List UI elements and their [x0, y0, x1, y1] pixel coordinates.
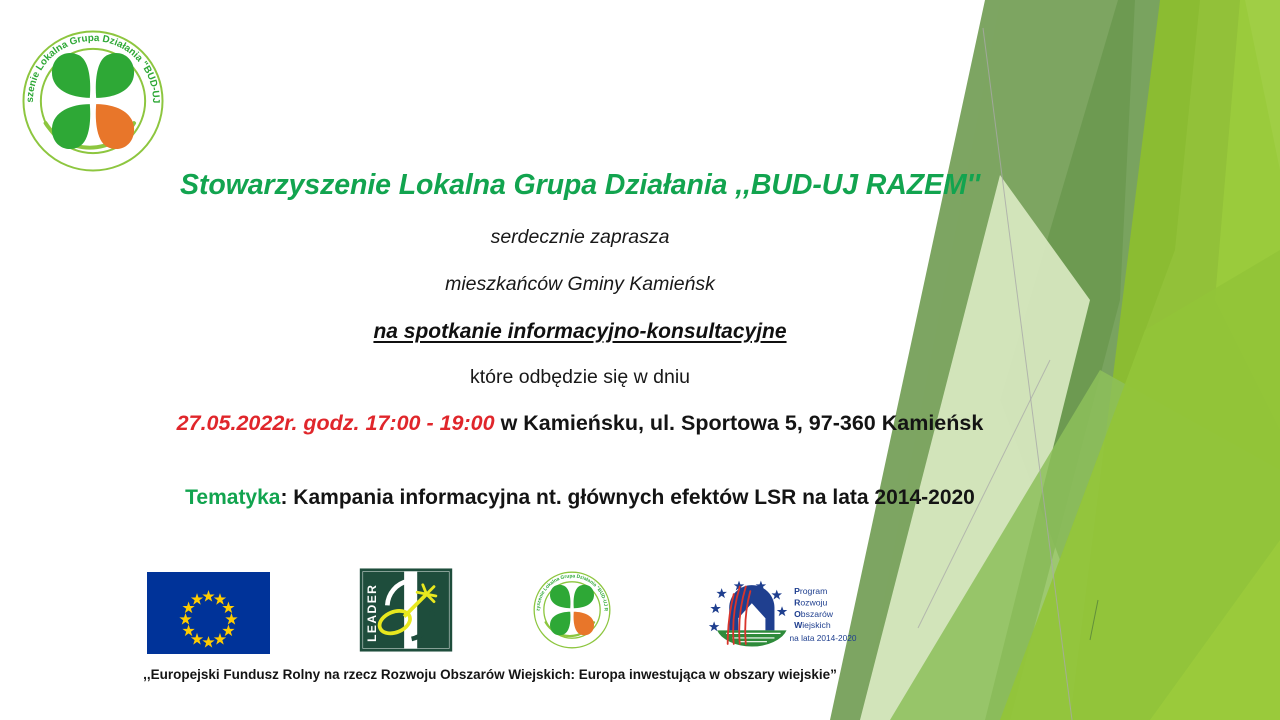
prow-caption: Program Rozwoju Obszarów Wiejskich na la…	[790, 586, 857, 643]
decor-shape-olive-2	[1000, 0, 1200, 560]
clover-leaf-bottom-right	[96, 104, 134, 149]
lgd-small-leaf-top-left	[550, 585, 570, 608]
footer-logo-strip: LEADER Stowarzyszenie Lokalna Grupa Dzia…	[140, 562, 860, 658]
lgd-small-leaf-bottom-right	[574, 612, 594, 635]
topic-line: Tematyka: Kampania informacyjna nt. głów…	[150, 486, 1010, 510]
clover-leaf-top-right	[96, 53, 134, 98]
clover-leaf-bottom-left	[52, 104, 90, 149]
invitation-line: serdecznie zaprasza	[150, 226, 1010, 249]
svg-text:Program: Program	[794, 586, 827, 596]
decor-shape-bright-3	[1000, 250, 1280, 720]
event-place: w Kamieńsku, ul. Sportowa 5, 97-360 Kami…	[501, 411, 984, 435]
lgd-bud-uj-razem-logo: Stowarzyszenie Lokalna Grupa Działania "…	[14, 22, 172, 180]
decor-shape-bright-4	[1150, 540, 1280, 720]
eu-flag-logo	[146, 572, 271, 654]
presentation-slide: Stowarzyszenie Lokalna Grupa Działania "…	[0, 0, 1280, 720]
event-datetime: 27.05.2022r. godz. 17:00 - 19:00	[177, 411, 495, 435]
svg-text:Wiejskich: Wiejskich	[794, 620, 831, 630]
meeting-type-line: na spotkanie informacyjno-konsultacyjne	[150, 320, 1010, 344]
lgd-small-logo: Stowarzyszenie Lokalna Grupa Działania "…	[526, 566, 618, 654]
meeting-type-text: na spotkanie informacyjno-konsultacyjne	[373, 320, 786, 343]
topic-label: Tematyka	[185, 486, 280, 509]
decor-hairline-3	[1090, 600, 1098, 640]
lgd-small-leaf-bottom-left	[550, 612, 570, 635]
leader-label: LEADER	[365, 584, 379, 642]
decor-shape-bright-1	[1070, 0, 1280, 720]
lgd-small-leaf-top-right	[574, 585, 594, 608]
footer-caption: ,,Europejski Fundusz Rolny na rzecz Rozw…	[140, 667, 840, 682]
when-intro-line: które odbędzie się w dniu	[150, 366, 1010, 389]
prow-logo: Program Rozwoju Obszarów Wiejskich na la…	[696, 570, 862, 650]
svg-text:Rozwoju: Rozwoju	[794, 597, 827, 607]
organization-title: Stowarzyszenie Lokalna Grupa Działania ,…	[150, 168, 1010, 204]
logo-outer-ring	[23, 31, 162, 170]
topic-text: : Kampania informacyjna nt. głównych efe…	[280, 486, 974, 509]
slide-content: Stowarzyszenie Lokalna Grupa Działania ,…	[150, 168, 1010, 510]
audience-line: mieszkańców Gminy Kamieńsk	[150, 273, 1010, 296]
leader-logo: LEADER	[358, 568, 454, 652]
logo-clover	[52, 53, 134, 149]
decor-shape-bright-2	[1215, 0, 1280, 430]
prow-years: na lata 2014-2020	[790, 633, 857, 643]
date-place-line: 27.05.2022r. godz. 17:00 - 19:00 w Kamie…	[150, 411, 1010, 436]
svg-text:Obszarów: Obszarów	[794, 609, 834, 619]
clover-leaf-top-left	[52, 53, 90, 98]
